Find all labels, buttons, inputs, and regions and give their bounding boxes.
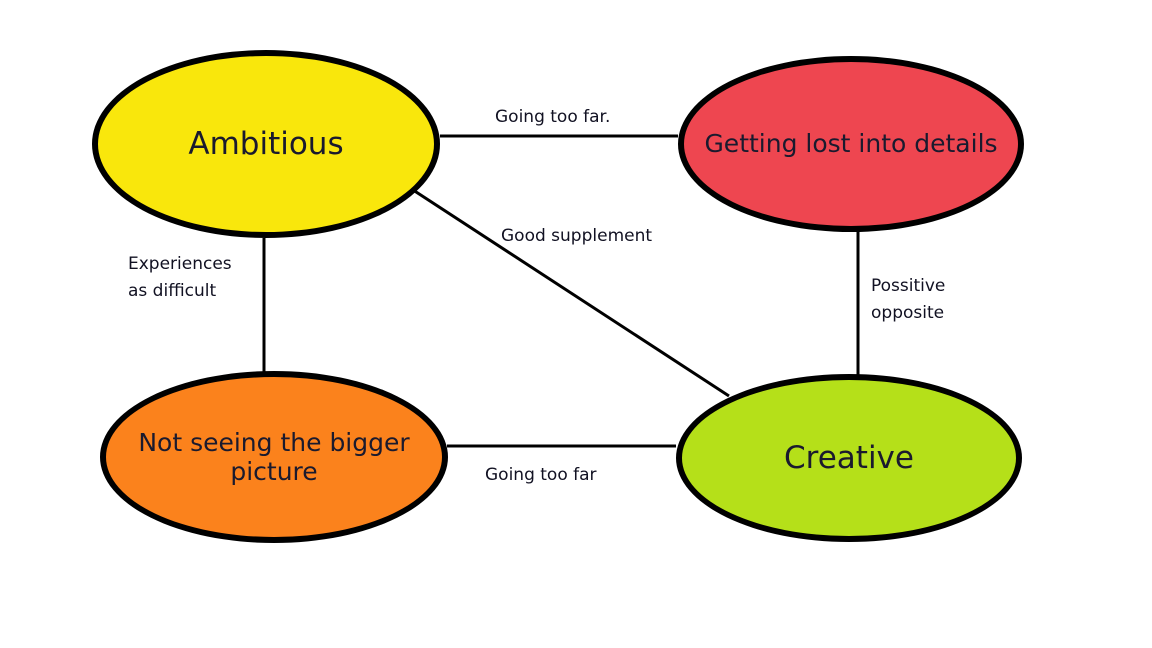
node-ambitious-label: Ambitious (170, 126, 361, 163)
edge-label-details-creative: Possitive opposite (871, 273, 945, 327)
node-creative-label: Creative (766, 440, 932, 477)
node-creative[interactable]: Creative (676, 374, 1022, 542)
diagram-canvas: Ambitious Getting lost into details Not … (0, 0, 1152, 648)
node-not-seeing-the-bigger-picture[interactable]: Not seeing the bigger picture (100, 371, 448, 543)
node-ambitious[interactable]: Ambitious (92, 50, 440, 238)
node-getting-lost-into-details[interactable]: Getting lost into details (678, 56, 1024, 232)
edge-label-bigger-picture-creative: Going too far (485, 462, 597, 489)
edge-label-ambitious-bigger-picture: Experiences as difficult (128, 251, 232, 305)
edge-label-ambitious-details: Going too far. (495, 104, 610, 131)
node-getting-lost-into-details-label: Getting lost into details (698, 129, 1003, 159)
edge-ambitious-creative (410, 188, 729, 396)
edge-label-ambitious-creative: Good supplement (501, 223, 652, 250)
node-not-seeing-the-bigger-picture-label: Not seeing the bigger picture (120, 428, 427, 487)
